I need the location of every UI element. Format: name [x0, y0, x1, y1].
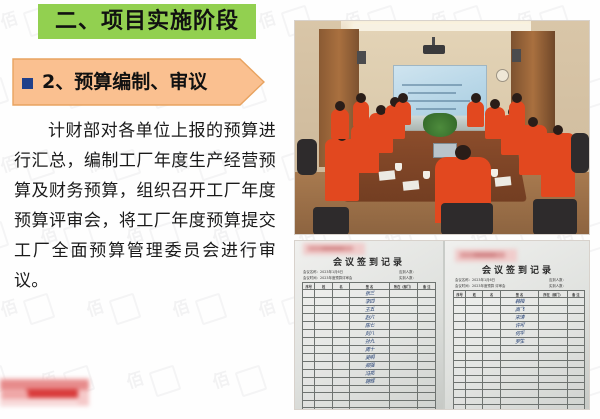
table-cell: 蒋辉 — [350, 378, 389, 386]
table-row: 陈七 — [303, 322, 436, 330]
person — [467, 101, 484, 127]
table-cell — [332, 393, 349, 400]
section-title-text: 二、项目实施阶段 — [55, 11, 239, 33]
table-cell — [466, 382, 483, 389]
table-cell — [418, 362, 436, 370]
table-cell — [315, 370, 332, 378]
table-row: 张三 — [303, 290, 436, 298]
table-cell — [389, 322, 418, 330]
table-cell — [418, 330, 436, 338]
table-cell — [303, 346, 315, 354]
left-content-column: 二、项目实施阶段 2、预算编制、审议 计财部对各单位上报的预算进行汇总，编制工厂… — [0, 0, 290, 419]
table-cell — [539, 330, 568, 338]
sheet-meta-line: 会议时间：2023年度预算 评审会 — [455, 283, 505, 288]
table-cell — [539, 360, 568, 367]
table-cell — [483, 314, 500, 322]
table-cell — [500, 353, 539, 360]
table-cell — [483, 306, 500, 314]
column-header: 备 注 — [418, 283, 436, 290]
subsection-title-text: 2、预算编制、审议 — [42, 73, 207, 92]
bullet-square-icon — [22, 78, 33, 89]
signature: 蒋辉 — [365, 378, 374, 386]
table-cell — [303, 354, 315, 362]
photo-column: 会议签到记录 会议名称：2023年1月6日 会议时间：2023年度预算评审会 应… — [294, 20, 590, 410]
table-cell — [389, 362, 418, 370]
table-cell — [483, 338, 500, 346]
table-cell — [454, 405, 466, 410]
table-cell — [418, 378, 436, 386]
table-cell — [303, 330, 315, 338]
table-cell — [466, 330, 483, 338]
table-cell — [389, 330, 418, 338]
section-title-banner: 二、项目实施阶段 — [38, 4, 256, 39]
table-cell — [483, 368, 500, 375]
wall-clock-icon — [496, 69, 509, 82]
table-row — [454, 360, 585, 367]
table-cell — [567, 306, 584, 314]
table-cell — [454, 306, 466, 314]
table-cell — [483, 298, 500, 306]
table-cell — [303, 314, 315, 322]
table-row: 李四 — [303, 298, 436, 306]
table-row — [454, 346, 585, 353]
sheet-title: 会议签到记录 — [445, 263, 590, 276]
table-cell — [539, 397, 568, 404]
table-cell — [332, 370, 349, 378]
table-cell — [418, 306, 436, 314]
table-plant — [423, 113, 457, 137]
signin-table: 序号姓名签 名所在（部门）备 注张三李四王五赵六陈七刘八孙九周十吴明郑强冯亮蒋辉 — [302, 282, 436, 410]
table-cell — [454, 298, 466, 306]
signin-sheets-photo: 会议签到记录 会议名称：2023年1月6日 会议时间：2023年度预算评审会 应… — [294, 240, 590, 410]
table-cell — [567, 346, 584, 353]
sheet-meta-right: 应到人数： — [399, 269, 416, 274]
column-header: 所在（部门） — [389, 283, 418, 290]
table-cell — [567, 353, 584, 360]
table-row: 吴明 — [303, 354, 436, 362]
table-row — [303, 400, 436, 407]
table-cell — [454, 314, 466, 322]
sheet-meta-line: 会议名称：2023年1月6日 — [303, 269, 343, 274]
table-cell — [500, 382, 539, 389]
person — [331, 109, 349, 139]
body-paragraph: 计财部对各单位上报的预算进行汇总，编制工厂年度生产经营预算及财务预算，组织召开工… — [14, 116, 276, 296]
table-cell — [539, 390, 568, 397]
signature: 高飞 — [515, 306, 524, 314]
table-cell — [466, 322, 483, 330]
table-cell — [303, 408, 315, 410]
table-row: 韩梅 — [454, 298, 585, 306]
table-cell — [539, 375, 568, 382]
signin-sheet-right: 会议签到记录 会议名称：2023年1月6日 会议时间：2023年度预算 评审会 … — [445, 241, 590, 410]
table-cell — [454, 368, 466, 375]
table-cell — [315, 354, 332, 362]
signature: 郑强 — [365, 362, 374, 370]
table-cell: 孙九 — [350, 338, 389, 346]
table-cell — [567, 338, 584, 346]
table-cell — [466, 360, 483, 367]
table-cell — [315, 306, 332, 314]
table-cell — [332, 298, 349, 306]
table-cell — [539, 322, 568, 330]
table-cell: 韩梅 — [500, 298, 539, 306]
table-cell: 李四 — [350, 298, 389, 306]
signature: 王五 — [365, 306, 374, 314]
table-cell — [454, 353, 466, 360]
table-cell — [539, 405, 568, 410]
table-cell — [567, 298, 584, 306]
table-cell — [315, 322, 332, 330]
table-cell — [418, 386, 436, 393]
table-row: 何平 — [454, 330, 585, 338]
table-row — [454, 382, 585, 389]
table-cell — [466, 346, 483, 353]
person — [395, 101, 411, 125]
table-cell — [315, 330, 332, 338]
table-cell — [500, 368, 539, 375]
table-cell — [539, 298, 568, 306]
table-cell — [483, 382, 500, 389]
table-row: 赵六 — [303, 314, 436, 322]
table-cell — [567, 314, 584, 322]
sheet-title: 会议签到记录 — [295, 255, 443, 268]
table-cell — [303, 298, 315, 306]
table-cell — [454, 322, 466, 330]
table-cell — [466, 338, 483, 346]
table-cell — [454, 375, 466, 382]
table-cell — [483, 375, 500, 382]
table-cell: 郑强 — [350, 362, 389, 370]
table-cell — [418, 314, 436, 322]
table-cell — [332, 290, 349, 298]
table-cell — [500, 397, 539, 404]
table-cell — [389, 338, 418, 346]
table-cell — [466, 353, 483, 360]
table-cell — [315, 400, 332, 407]
table-cell — [389, 378, 418, 386]
table-cell — [454, 360, 466, 367]
sheet-meta-line: 会议名称：2023年1月6日 — [455, 277, 495, 282]
table-cell: 吴明 — [350, 354, 389, 362]
table-cell — [389, 393, 418, 400]
table-cell — [500, 346, 539, 353]
signature: 吴明 — [365, 354, 374, 362]
table-cell — [389, 370, 418, 378]
table-cell: 宋涛 — [500, 314, 539, 322]
signature: 何平 — [515, 330, 524, 338]
table-cell — [567, 382, 584, 389]
table-cell — [567, 330, 584, 338]
table-cell — [315, 290, 332, 298]
table-cell — [466, 390, 483, 397]
table-cell — [483, 360, 500, 367]
table-cell — [303, 386, 315, 393]
table-cell — [332, 378, 349, 386]
table-cell — [500, 405, 539, 410]
table-cell — [332, 338, 349, 346]
table-row — [454, 353, 585, 360]
sheet-meta-right: 实到人数： — [549, 283, 566, 288]
table-cell — [350, 386, 389, 393]
table-cell — [483, 405, 500, 410]
table-cell — [500, 375, 539, 382]
sheet-redaction — [455, 249, 517, 262]
column-header: 签 名 — [350, 283, 389, 290]
table-row — [303, 408, 436, 410]
table-row: 孙九 — [303, 338, 436, 346]
table-cell: 刘八 — [350, 330, 389, 338]
sheet-meta-line: 会议时间：2023年度预算评审会 — [303, 275, 352, 280]
table-cell — [350, 393, 389, 400]
table-cell — [315, 378, 332, 386]
table-cell — [539, 353, 568, 360]
table-cell — [315, 393, 332, 400]
table-cell: 周十 — [350, 346, 389, 354]
table-cell — [539, 306, 568, 314]
table-cell — [303, 378, 315, 386]
signature: 张三 — [365, 290, 374, 298]
signature: 赵六 — [365, 314, 374, 322]
table-cell: 陈七 — [350, 322, 389, 330]
subsection-arrow-banner: 2、预算编制、审议 — [12, 58, 265, 106]
table-cell — [418, 370, 436, 378]
table-cell — [466, 375, 483, 382]
table-row — [454, 390, 585, 397]
meeting-photo — [294, 20, 590, 235]
sheet-meta-right: 实到人数： — [399, 275, 416, 280]
table-cell — [303, 306, 315, 314]
table-cell — [389, 314, 418, 322]
signature: 罗生 — [515, 338, 524, 346]
column-header: 签 名 — [500, 291, 539, 298]
signature: 陈七 — [365, 322, 374, 330]
table-cell — [567, 368, 584, 375]
table-cell — [350, 408, 389, 410]
table-cell — [483, 390, 500, 397]
slide-canvas: 佰佰佰佰佰佰佰佰佰佰佰佰佰佰佰佰佰佰佰佰佰佰佰佰佰佰佰佰佰佰佰佰佰佰佰佰佰佰佰佰… — [0, 0, 600, 419]
column-header: 姓 — [466, 291, 483, 298]
signature: 李四 — [365, 298, 374, 306]
table-cell — [539, 338, 568, 346]
table-cell — [332, 322, 349, 330]
table-header-row: 序号姓名签 名所在（部门）备 注 — [303, 283, 436, 290]
table-row: 郑强 — [303, 362, 436, 370]
table-cell — [389, 306, 418, 314]
table-row — [454, 368, 585, 375]
table-cell — [303, 393, 315, 400]
person — [509, 101, 525, 125]
table-cell — [389, 400, 418, 407]
table-cell — [483, 330, 500, 338]
table-cell — [332, 330, 349, 338]
signin-sheet-left: 会议签到记录 会议名称：2023年1月6日 会议时间：2023年度预算评审会 应… — [295, 241, 443, 410]
table-cell — [332, 408, 349, 410]
table-cell — [483, 397, 500, 404]
table-cell — [315, 346, 332, 354]
table-cell — [567, 322, 584, 330]
table-row: 王五 — [303, 306, 436, 314]
table-cell — [454, 397, 466, 404]
table-cell: 高飞 — [500, 306, 539, 314]
table-row — [303, 393, 436, 400]
table-cell — [466, 314, 483, 322]
sheet-redaction — [303, 243, 365, 255]
table-row — [303, 386, 436, 393]
table-cell — [389, 298, 418, 306]
table-cell — [418, 338, 436, 346]
signature: 冯亮 — [365, 370, 374, 378]
table-cell — [332, 314, 349, 322]
table-cell — [466, 298, 483, 306]
column-header: 备 注 — [567, 291, 584, 298]
table-cell — [466, 397, 483, 404]
table-cell: 冯亮 — [350, 370, 389, 378]
table-cell — [315, 408, 332, 410]
column-header: 序号 — [303, 283, 315, 290]
table-cell — [454, 330, 466, 338]
table-cell — [483, 346, 500, 353]
table-cell — [454, 346, 466, 353]
table-cell — [454, 382, 466, 389]
table-cell — [389, 290, 418, 298]
table-cell — [567, 405, 584, 410]
table-cell — [389, 346, 418, 354]
table-cell: 罗生 — [500, 338, 539, 346]
table-cell — [303, 400, 315, 407]
table-cell: 何平 — [500, 330, 539, 338]
table-cell — [315, 386, 332, 393]
signin-table: 序号姓名签 名所在（部门）备 注韩梅高飞宋涛许可何平罗生 — [453, 290, 585, 410]
table-cell — [332, 362, 349, 370]
table-cell — [454, 390, 466, 397]
table-cell — [567, 360, 584, 367]
table-cell — [332, 386, 349, 393]
table-cell — [418, 298, 436, 306]
table-cell: 许可 — [500, 322, 539, 330]
table-row: 许可 — [454, 322, 585, 330]
table-cell — [350, 400, 389, 407]
table-row — [454, 405, 585, 410]
table-cell — [567, 390, 584, 397]
table-cell — [418, 400, 436, 407]
column-header: 姓 — [315, 283, 332, 290]
table-cell — [418, 408, 436, 410]
table-cell — [539, 382, 568, 389]
table-cell — [466, 368, 483, 375]
table-cell — [539, 346, 568, 353]
column-header: 名 — [332, 283, 349, 290]
table-row: 宋涛 — [454, 314, 585, 322]
signature: 周十 — [365, 346, 374, 354]
signature: 韩梅 — [515, 298, 524, 306]
table-cell — [466, 306, 483, 314]
table-row: 刘八 — [303, 330, 436, 338]
table-cell — [332, 306, 349, 314]
column-header: 名 — [483, 291, 500, 298]
table-cell — [303, 370, 315, 378]
person — [541, 133, 575, 197]
table-cell — [303, 362, 315, 370]
redaction-bar — [0, 378, 89, 406]
table-cell — [389, 354, 418, 362]
table-row: 高飞 — [454, 306, 585, 314]
table-cell: 张三 — [350, 290, 389, 298]
table-cell — [315, 338, 332, 346]
person — [353, 101, 369, 127]
laptop — [433, 143, 457, 158]
table-cell — [454, 338, 466, 346]
table-cell — [418, 354, 436, 362]
table-cell — [418, 393, 436, 400]
table-cell — [567, 397, 584, 404]
table-row — [454, 375, 585, 382]
signature: 孙九 — [365, 338, 374, 346]
table-cell — [315, 314, 332, 322]
table-row: 蒋辉 — [303, 378, 436, 386]
table-cell — [303, 290, 315, 298]
table-cell — [315, 362, 332, 370]
table-cell — [389, 408, 418, 410]
table-cell — [303, 338, 315, 346]
signature: 宋涛 — [515, 314, 524, 322]
table-cell — [303, 322, 315, 330]
table-cell — [389, 386, 418, 393]
table-cell — [500, 360, 539, 367]
table-cell — [539, 368, 568, 375]
table-cell — [466, 405, 483, 410]
table-cell — [332, 400, 349, 407]
table-cell — [418, 346, 436, 354]
table-cell — [483, 322, 500, 330]
table-header-row: 序号姓名签 名所在（部门）备 注 — [454, 291, 585, 298]
sheet-meta-right: 应到人数： — [549, 277, 566, 282]
table-cell — [483, 353, 500, 360]
table-cell — [315, 298, 332, 306]
table-cell — [418, 290, 436, 298]
table-cell: 赵六 — [350, 314, 389, 322]
table-cell — [418, 322, 436, 330]
signature: 许可 — [515, 322, 524, 330]
table-cell — [539, 314, 568, 322]
column-header: 序号 — [454, 291, 466, 298]
table-cell — [567, 375, 584, 382]
table-cell — [332, 354, 349, 362]
column-header: 所在（部门） — [539, 291, 568, 298]
table-cell: 王五 — [350, 306, 389, 314]
table-row: 周十 — [303, 346, 436, 354]
table-cell — [332, 346, 349, 354]
table-cell — [500, 390, 539, 397]
table-row: 罗生 — [454, 338, 585, 346]
signature: 刘八 — [365, 330, 374, 338]
table-row: 冯亮 — [303, 370, 436, 378]
table-row — [454, 397, 585, 404]
